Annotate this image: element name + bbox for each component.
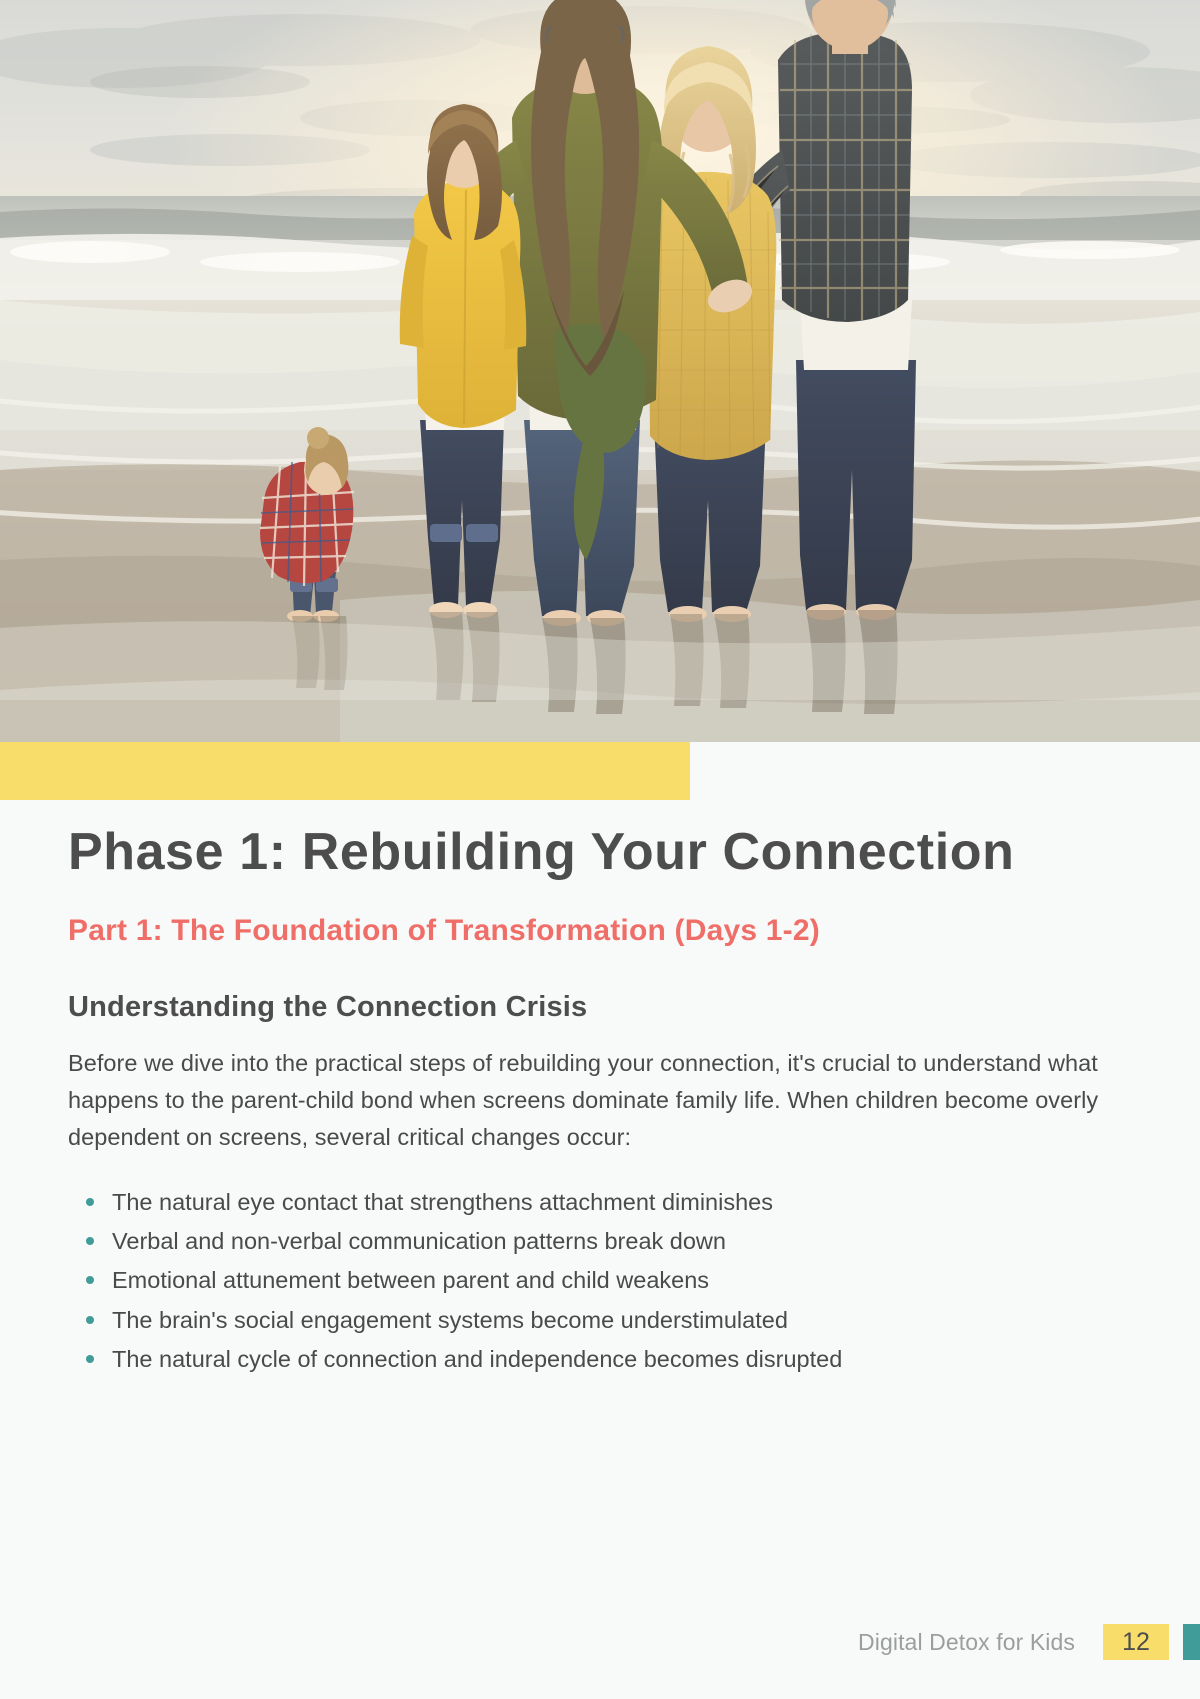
footer-book-title: Digital Detox for Kids <box>858 1629 1075 1656</box>
beach-family-illustration <box>0 0 1200 742</box>
list-item-label: Verbal and non-verbal communication patt… <box>112 1228 726 1254</box>
list-item: Verbal and non-verbal communication patt… <box>68 1223 1132 1260</box>
page-footer: Digital Detox for Kids 12 <box>0 1617 1200 1667</box>
bullet-dot-icon <box>86 1237 94 1245</box>
list-item-label: The natural eye contact that strengthens… <box>112 1189 773 1215</box>
list-item: The natural eye contact that strengthens… <box>68 1184 1132 1221</box>
list-item: Emotional attunement between parent and … <box>68 1262 1132 1299</box>
list-item-label: The natural cycle of connection and inde… <box>112 1346 842 1372</box>
bullet-dot-icon <box>86 1276 94 1284</box>
page-content: Phase 1: Rebuilding Your Connection Part… <box>0 800 1200 1380</box>
list-item: The brain's social engagement systems be… <box>68 1302 1132 1339</box>
body-paragraph: Before we dive into the practical steps … <box>68 1045 1132 1156</box>
bullet-dot-icon <box>86 1316 94 1324</box>
part-heading: Part 1: The Foundation of Transformation… <box>68 913 1132 950</box>
bullet-dot-icon <box>86 1198 94 1206</box>
connection-changes-list: The natural eye contact that strengthens… <box>68 1184 1132 1378</box>
section-heading: Understanding the Connection Crisis <box>68 990 1132 1025</box>
hero-image <box>0 0 1200 742</box>
list-item-label: Emotional attunement between parent and … <box>112 1267 709 1293</box>
yellow-accent-bar <box>0 742 690 800</box>
list-item: The natural cycle of connection and inde… <box>68 1341 1132 1378</box>
bullet-dot-icon <box>86 1355 94 1363</box>
page-title: Phase 1: Rebuilding Your Connection <box>68 800 1132 883</box>
list-item-label: The brain's social engagement systems be… <box>112 1307 788 1333</box>
page-number-badge: 12 <box>1103 1624 1169 1660</box>
footer-teal-tab <box>1183 1624 1200 1660</box>
